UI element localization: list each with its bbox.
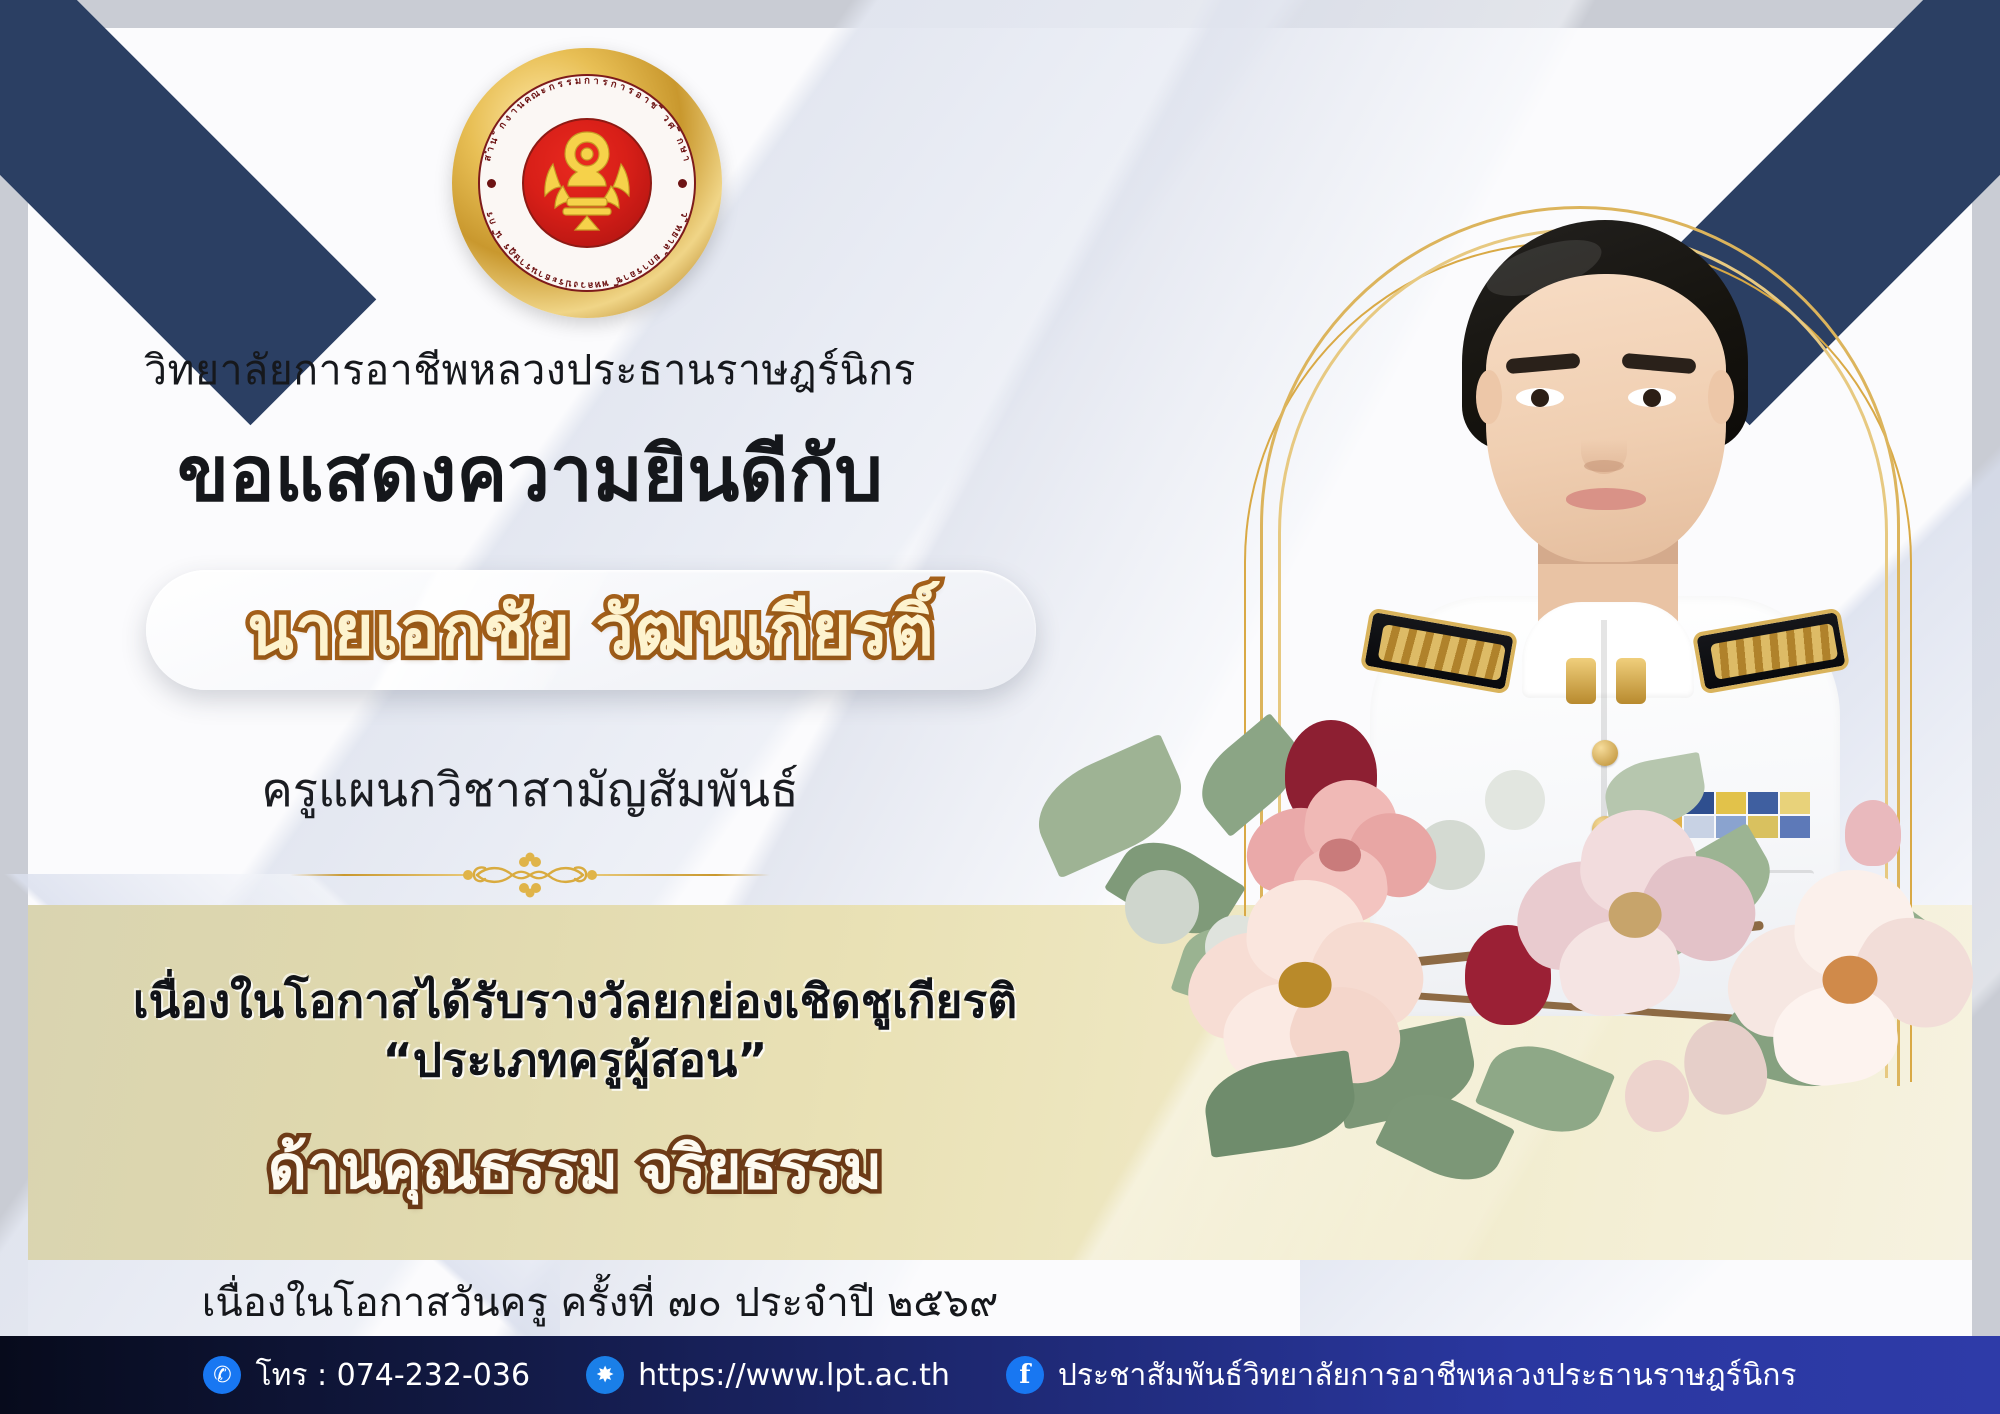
footer-facebook[interactable]: f ประชาสัมพันธ์วิทยาลัยการอาชีพหลวงประธา… — [1006, 1352, 1797, 1399]
seal-emblem-icon — [533, 124, 641, 242]
honoree-name-plate: นายเอกชัย วัฒนเกียรติ์ — [146, 570, 1036, 690]
occasion-text: เนื่องในโอกาสวันครู ครั้งที่ ๗๐ ประจำปี … — [0, 1270, 1200, 1334]
seal-ring: สำนักงานคณะกรรมการการอาชีวศึกษาวิทยาลัยก… — [478, 74, 696, 292]
honoree-role: ครูแผนกวิชาสามัญสัมพันธ์ — [0, 752, 1060, 827]
honoree-name: นายเอกชัย วัฒนเกียรติ์ — [247, 576, 934, 684]
footer-phone[interactable]: ✆ โทร : 074-232-036 — [203, 1352, 530, 1399]
seal-center — [522, 118, 652, 248]
footer-website[interactable]: ✸ https://www.lpt.ac.th — [586, 1356, 950, 1394]
globe-icon: ✸ — [586, 1356, 624, 1394]
uniform-collar — [1522, 602, 1694, 698]
seal-dot-left — [487, 179, 496, 188]
eye-right — [1628, 388, 1676, 407]
award-category: ด้านคุณธรรม จริยธรรม — [0, 1120, 1150, 1215]
certificate-card: สำนักงานคณะกรรมการการอาชีวศึกษาวิทยาลัยก… — [0, 0, 2000, 1414]
footer-bar: ✆ โทร : 074-232-036 ✸ https://www.lpt.ac… — [0, 1336, 2000, 1414]
gold-flourish-divider-icon — [290, 852, 770, 898]
footer-phone-label: โทร : 074-232-036 — [255, 1352, 530, 1399]
collar-insignia-left — [1566, 658, 1596, 704]
flourish-ornament-icon — [455, 852, 605, 898]
nose — [1581, 416, 1627, 474]
vocational-education-seal-icon: สำนักงานคณะกรรมการการอาชีวศึกษาวิทยาลัยก… — [452, 48, 722, 318]
page-title: ขอแสดงความยินดีกับ — [0, 414, 1060, 534]
ear-right — [1708, 370, 1734, 424]
mouth — [1566, 488, 1646, 510]
seal-dot-right — [678, 179, 687, 188]
ear-left — [1476, 370, 1502, 424]
award-reason-line-2: “ประเภทครูผู้สอน” — [0, 1024, 1150, 1097]
collar-insignia-right — [1616, 658, 1646, 704]
floral-bouquet-icon — [1085, 700, 1985, 1260]
phone-icon: ✆ — [203, 1356, 241, 1394]
footer-website-label: https://www.lpt.ac.th — [638, 1358, 950, 1393]
footer-facebook-label: ประชาสัมพันธ์วิทยาลัยการอาชีพหลวงประธานร… — [1058, 1352, 1797, 1399]
facebook-icon: f — [1006, 1356, 1044, 1394]
divider-line-left — [290, 874, 470, 876]
eye-left — [1516, 388, 1564, 407]
divider-line-right — [590, 874, 770, 876]
organization-name: วิทยาลัยการอาชีพหลวงประธานราษฎร์นิกร — [0, 338, 1060, 403]
